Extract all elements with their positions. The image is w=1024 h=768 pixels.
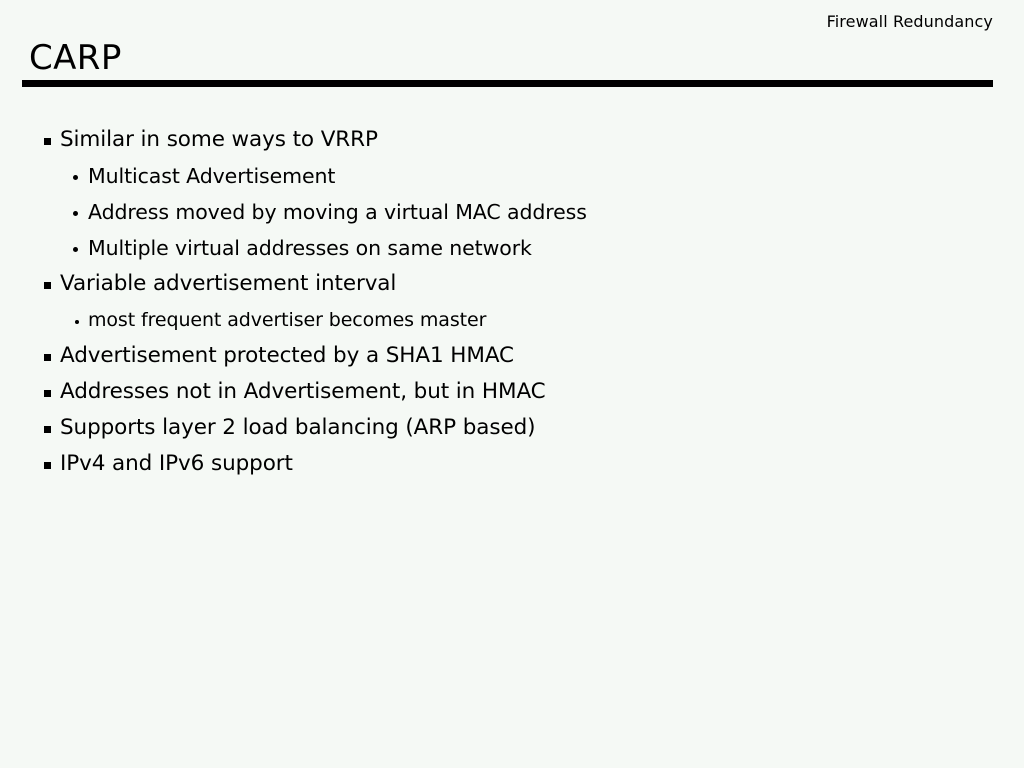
list-item-label: Address moved by moving a virtual MAC ad… [88, 196, 587, 228]
round-bullet-icon [73, 175, 78, 180]
list-item: Similar in some ways to VRRP [0, 124, 1024, 160]
list-item: Multicast Advertisement [0, 160, 1024, 196]
square-bullet-icon [44, 426, 51, 433]
list-item-label: Addresses not in Advertisement, but in H… [60, 376, 546, 408]
slide-header-label: Firewall Redundancy [827, 12, 993, 32]
list-item: IPv4 and IPv6 support [0, 448, 1024, 484]
bullet-list: Similar in some ways to VRRP Multicast A… [0, 124, 1024, 484]
square-bullet-icon [44, 462, 51, 469]
list-item: Variable advertisement interval [0, 268, 1024, 304]
round-bullet-icon [73, 247, 78, 252]
list-item: Supports layer 2 load balancing (ARP bas… [0, 412, 1024, 448]
list-item-label: IPv4 and IPv6 support [60, 448, 293, 480]
square-bullet-icon [44, 282, 51, 289]
square-bullet-icon [44, 354, 51, 361]
list-item-label: Variable advertisement interval [60, 268, 396, 300]
list-item: Addresses not in Advertisement, but in H… [0, 376, 1024, 412]
page-title: CARP [29, 38, 122, 78]
slide: Firewall Redundancy CARP Similar in some… [0, 0, 1024, 768]
list-item: Address moved by moving a virtual MAC ad… [0, 196, 1024, 232]
list-item: Multiple virtual addresses on same netwo… [0, 232, 1024, 268]
round-bullet-icon [73, 211, 78, 216]
list-item-label: Similar in some ways to VRRP [60, 124, 378, 156]
round-bullet-icon [75, 320, 79, 324]
title-divider [22, 80, 993, 87]
list-item-label: Advertisement protected by a SHA1 HMAC [60, 340, 514, 372]
list-item-label: Multicast Advertisement [88, 160, 335, 192]
list-item-label: Multiple virtual addresses on same netwo… [88, 232, 532, 264]
list-item-label: Supports layer 2 load balancing (ARP bas… [60, 412, 535, 444]
square-bullet-icon [44, 390, 51, 397]
list-item: Advertisement protected by a SHA1 HMAC [0, 340, 1024, 376]
list-item: most frequent advertiser becomes master [0, 304, 1024, 340]
list-item-label: most frequent advertiser becomes master [88, 304, 486, 336]
square-bullet-icon [44, 138, 51, 145]
